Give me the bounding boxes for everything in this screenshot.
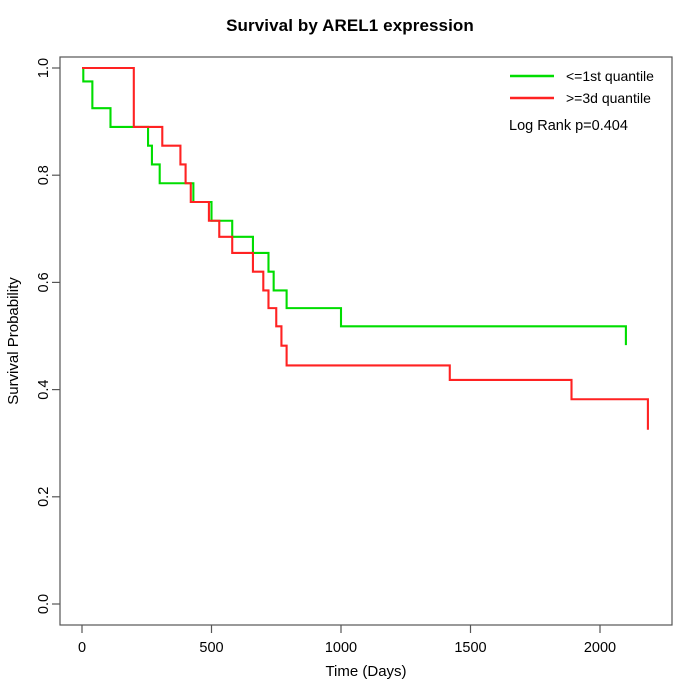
x-tick-label: 0 [78,640,86,656]
axes-layer: 05001000150020000.00.20.40.60.81.0Time (… [5,57,672,680]
y-tick-label: 0.0 [36,594,52,614]
log-rank-pvalue-label: Log Rank p=0.404 [509,118,628,134]
y-tick-label: 0.8 [36,165,52,185]
y-tick-label: 0.6 [36,272,52,292]
km-curve-low-quantile [82,68,626,345]
y-tick-label: 1.0 [36,58,52,78]
legend-label-0: <=1st quantile [566,68,654,84]
y-axis-title: Survival Probability [5,277,22,405]
y-tick-label: 0.4 [36,380,52,400]
x-tick-label: 500 [199,640,223,656]
x-tick-label: 1000 [325,640,357,656]
x-axis-title: Time (Days) [325,663,406,680]
plot-frame [60,57,672,625]
legend-label-1: >=3d quantile [566,90,651,106]
x-tick-label: 1500 [454,640,486,656]
chart-legend: <=1st quantile>=3d quantileLog Rank p=0.… [509,68,654,134]
y-tick-label: 0.2 [36,487,52,507]
chart-canvas: 05001000150020000.00.20.40.60.81.0Time (… [0,0,700,700]
survival-plot-figure: Survival by AREL1 expression 05001000150… [0,0,700,700]
x-tick-label: 2000 [584,640,616,656]
